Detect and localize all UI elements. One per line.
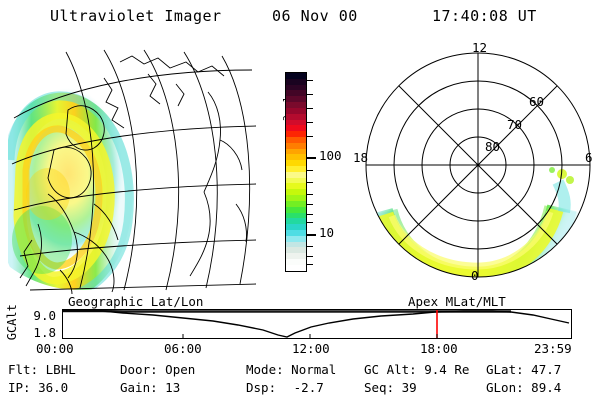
status-glat-value: 47.7 <box>531 362 561 377</box>
gcalt-ytick-min: 1.8 <box>26 325 56 340</box>
status-mode-key: Mode: <box>246 362 284 377</box>
time-tick-2359: 23:59 <box>534 341 572 356</box>
colorbar-minor-tick <box>307 94 313 95</box>
status-ip-key: IP: <box>8 380 31 395</box>
apex-polar-panel[interactable]: 12 18 6 0 60 70 80 <box>352 42 600 294</box>
gcalt-ytick-max: 9.0 <box>26 308 56 323</box>
status-seq: Seq: 39 <box>364 380 417 395</box>
status-glon-key: GLon: <box>486 380 524 395</box>
colorbar-minor-tick <box>307 256 313 257</box>
status-ip-value: 36.0 <box>38 380 68 395</box>
status-seq-value: 39 <box>402 380 417 395</box>
colorbar-minor-tick <box>307 214 313 215</box>
colorbar-tick-label: 100 <box>319 150 342 163</box>
status-seq-key: Seq: <box>364 380 394 395</box>
colorbar-minor-tick <box>307 122 313 123</box>
mlt-label-18: 18 <box>353 150 368 165</box>
status-glon-value: 89.4 <box>531 380 561 395</box>
mlt-label-0: 0 <box>471 268 479 283</box>
colorbar-panel: photon cm-2s-1 10010 <box>262 60 352 295</box>
colorbar-tick-label: 10 <box>319 227 334 240</box>
status-glat-key: GLat: <box>486 362 524 377</box>
mlat-label-80: 80 <box>485 139 500 154</box>
colorbar-minor-tick <box>307 170 313 171</box>
polar-grid <box>366 53 590 277</box>
mlt-label-12: 12 <box>472 40 487 55</box>
colorbar-minor-tick <box>307 246 313 247</box>
status-block: Flt: LBHL Door: Open Mode: Normal GC Alt… <box>0 362 600 400</box>
colorbar-minor-tick <box>307 194 313 195</box>
status-gain-value: 13 <box>165 380 180 395</box>
colorbar-minor-tick <box>307 204 313 205</box>
geographic-image-panel[interactable] <box>8 44 258 294</box>
status-glon: GLon: 89.4 <box>486 380 561 395</box>
aurora-emission-overlay <box>10 88 129 294</box>
status-door: Door: Open <box>120 362 195 377</box>
colorbar-segment <box>286 265 306 271</box>
status-door-value: Open <box>165 362 195 377</box>
observation-date: 06 Nov 00 <box>272 7 358 25</box>
colorbar-major-tick <box>307 157 316 159</box>
status-flt: Flt: LBHL <box>8 362 76 377</box>
status-gcalt-value: 9.4 Re <box>424 362 469 377</box>
colorbar-minor-tick <box>307 182 313 183</box>
status-glat: GLat: 47.7 <box>486 362 561 377</box>
orbit-altitude-panel: Alt GC 9.0 1.8 <box>0 306 600 342</box>
colorbar-minor-tick <box>307 136 313 137</box>
orbit-altitude-curve <box>63 310 571 338</box>
header-bar: Ultraviolet Imager 06 Nov 00 17:40:08 UT <box>0 4 600 30</box>
time-axis: 00:00 06:00 12:00 18:00 23:59 <box>0 341 600 359</box>
status-door-key: Door: <box>120 362 158 377</box>
status-gain: Gain: 13 <box>120 380 180 395</box>
status-flt-value: LBHL <box>46 362 76 377</box>
orbit-plot-box[interactable] <box>62 309 572 339</box>
polar-aurora-plot[interactable] <box>352 42 600 294</box>
page-title: Ultraviolet Imager <box>50 7 222 25</box>
status-gain-key: Gain: <box>120 380 158 395</box>
observation-time: 17:40:08 UT <box>432 7 537 25</box>
mlat-label-70: 70 <box>507 117 522 132</box>
ultraviolet-imager-window: Ultraviolet Imager 06 Nov 00 17:40:08 UT <box>0 0 600 400</box>
status-mode-value: Normal <box>291 362 336 377</box>
time-tick-0000: 00:00 <box>36 341 74 356</box>
status-dsp: Dsp: -2.7 <box>246 380 324 395</box>
status-dsp-key: Dsp: <box>246 380 276 395</box>
colorbar-minor-tick <box>307 264 313 265</box>
time-tick-1200: 12:00 <box>292 341 330 356</box>
status-gcalt-key: GC Alt: <box>364 362 417 377</box>
status-flt-key: Flt: <box>8 362 38 377</box>
colorbar-gradient[interactable] <box>285 72 307 272</box>
colorbar-major-tick <box>307 234 316 236</box>
colorbar-minor-tick <box>307 108 313 109</box>
colorbar-minor-tick <box>307 222 313 223</box>
mlt-label-6: 6 <box>585 150 593 165</box>
time-tick-0600: 06:00 <box>164 341 202 356</box>
globe-aurora-image[interactable] <box>8 44 258 294</box>
colorbar-minor-tick <box>307 80 313 81</box>
status-mode: Mode: Normal <box>246 362 336 377</box>
status-gcalt: GC Alt: 9.4 Re <box>364 362 469 377</box>
status-dsp-value: -2.7 <box>294 380 324 395</box>
status-ip: IP: 36.0 <box>8 380 68 395</box>
mlat-label-60: 60 <box>529 94 544 109</box>
time-tick-1800: 18:00 <box>420 341 458 356</box>
